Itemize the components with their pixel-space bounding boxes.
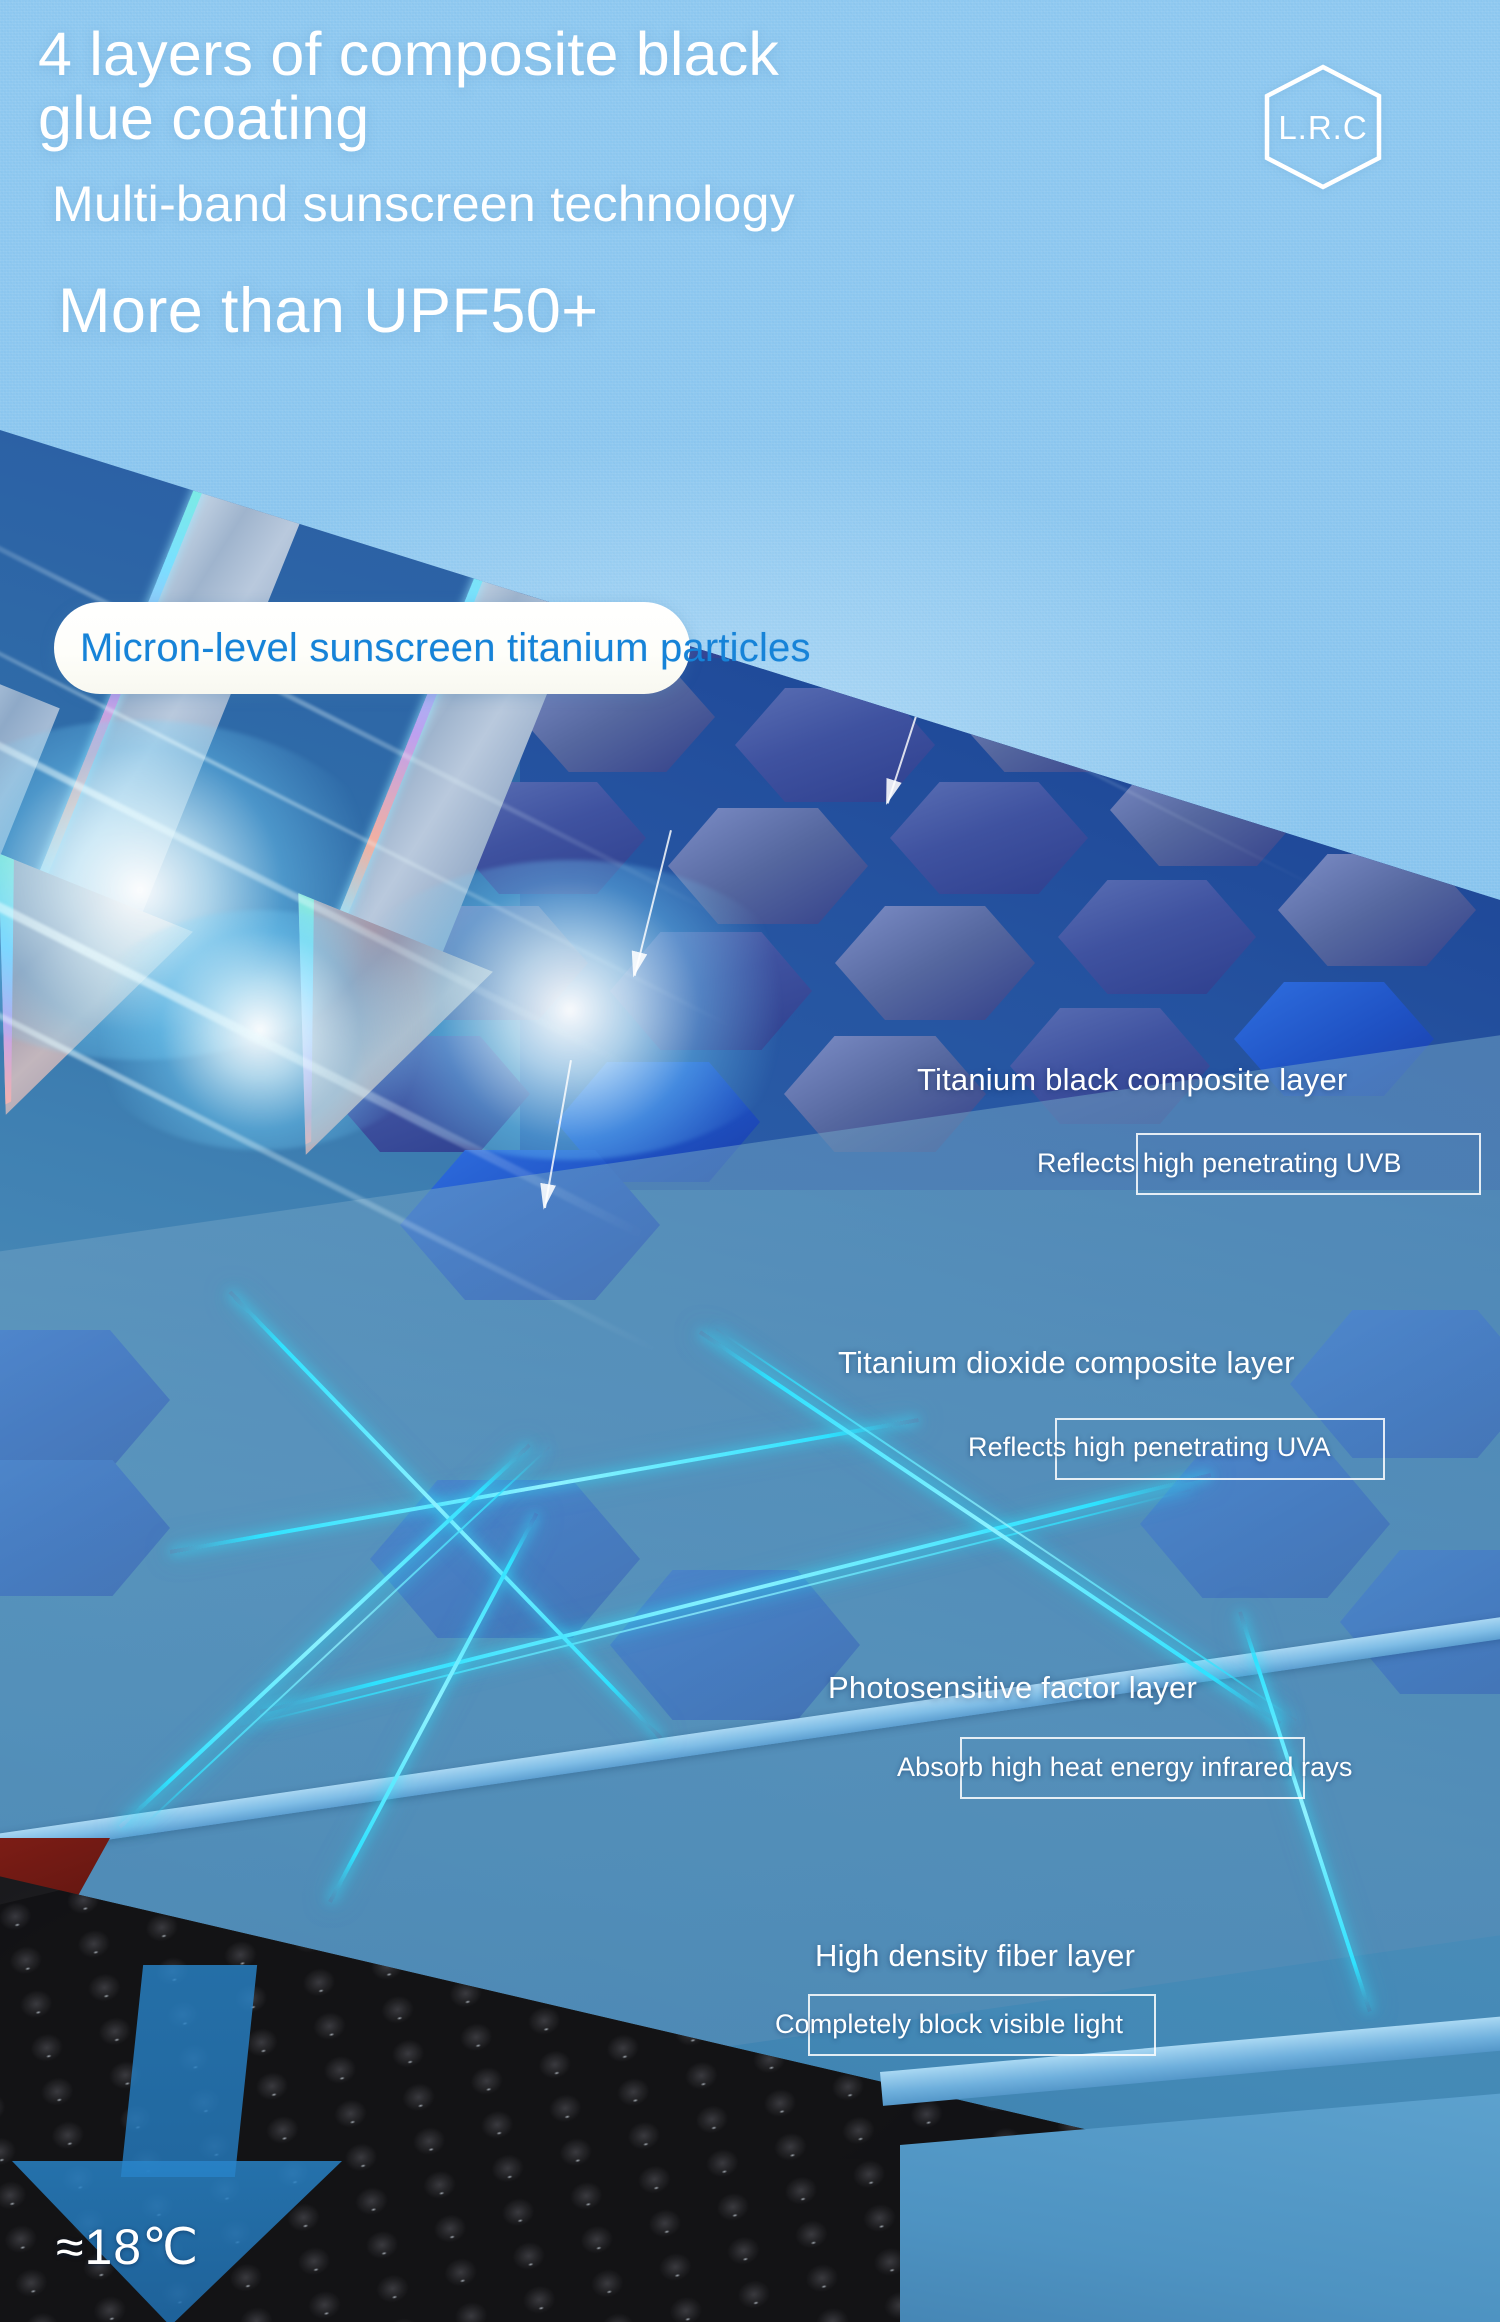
layer-function-2: Reflects high penetrating UVA [968, 1432, 1331, 1463]
layer-function-1: Reflects high penetrating UVB [1037, 1148, 1402, 1179]
layer-function-3: Absorb high heat energy infrared rays [897, 1752, 1352, 1783]
page-subheadline: Multi-band sunscreen technology [52, 175, 795, 233]
layer-title-2: Titanium dioxide composite layer [838, 1345, 1295, 1381]
page-headline: 4 layers of composite black glue coating [38, 22, 1218, 150]
layer-title-4: High density fiber layer [815, 1938, 1135, 1974]
cooling-arrow-shaft [121, 1965, 257, 2177]
logo-text: L.R.C [1278, 109, 1367, 146]
layer-title-1: Titanium black composite layer [917, 1062, 1347, 1098]
infographic-page: ≈18℃ 4 layers of composite black glue co… [0, 0, 1500, 2322]
badge-text: Micron-level sunscreen titanium particle… [80, 602, 811, 694]
lrc-hexagon-logo: L.R.C [1262, 63, 1384, 191]
layer-title-3: Photosensitive factor layer [828, 1670, 1197, 1706]
cooling-temperature-label: ≈18℃ [56, 2218, 199, 2276]
upf-claim: More than UPF50+ [58, 275, 598, 347]
layer-function-4: Completely block visible light [775, 2009, 1123, 2040]
